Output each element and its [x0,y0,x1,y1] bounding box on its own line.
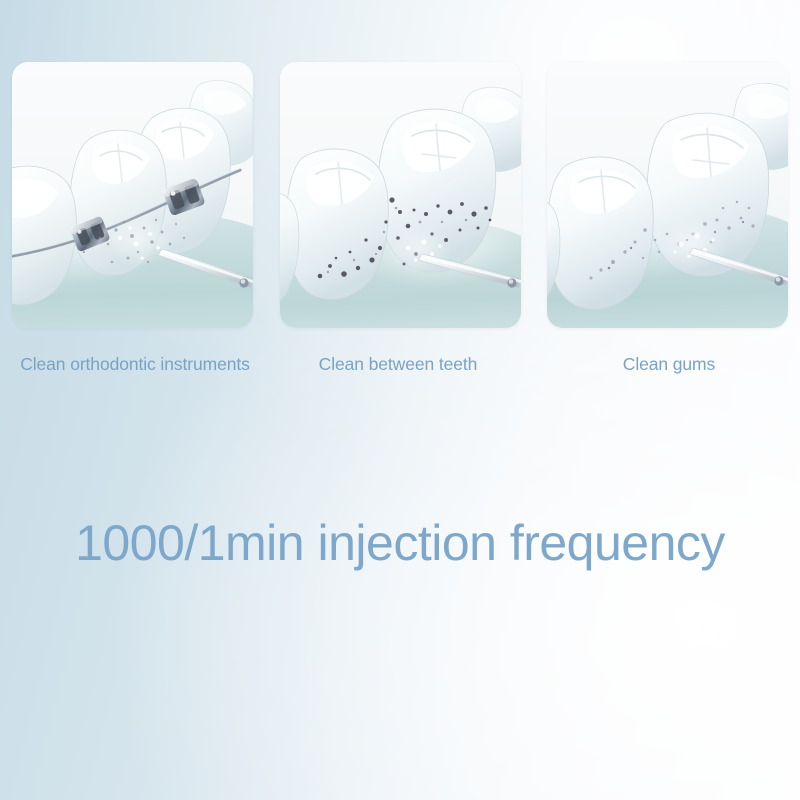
headline-injection-frequency: 1000/1min injection frequency [0,510,800,576]
feature-panel-between-teeth: Molars with dark plaque particles betwee… [280,62,521,328]
caption-clean-gums: Clean gums [580,354,758,375]
caption-row: Clean orthodontic instruments Clean betw… [0,354,800,380]
feature-panel-gums: Water flosser nozzle directed at the gum… [547,62,788,328]
teeth-plaque-illustration [280,62,521,328]
feature-panel-orthodontic: Molars fitted with orthodontic brackets … [12,62,253,328]
caption-clean-between-teeth: Clean between teeth [300,354,496,375]
teeth-braces-illustration [12,62,253,328]
teeth-gumline-illustration [547,62,788,328]
caption-clean-orthodontic-instruments: Clean orthodontic instruments [0,354,270,375]
flosser-nozzle [158,249,253,288]
poster-canvas: Molars fitted with orthodontic brackets … [0,0,800,800]
feature-panel-row: Molars fitted with orthodontic brackets … [12,62,788,328]
